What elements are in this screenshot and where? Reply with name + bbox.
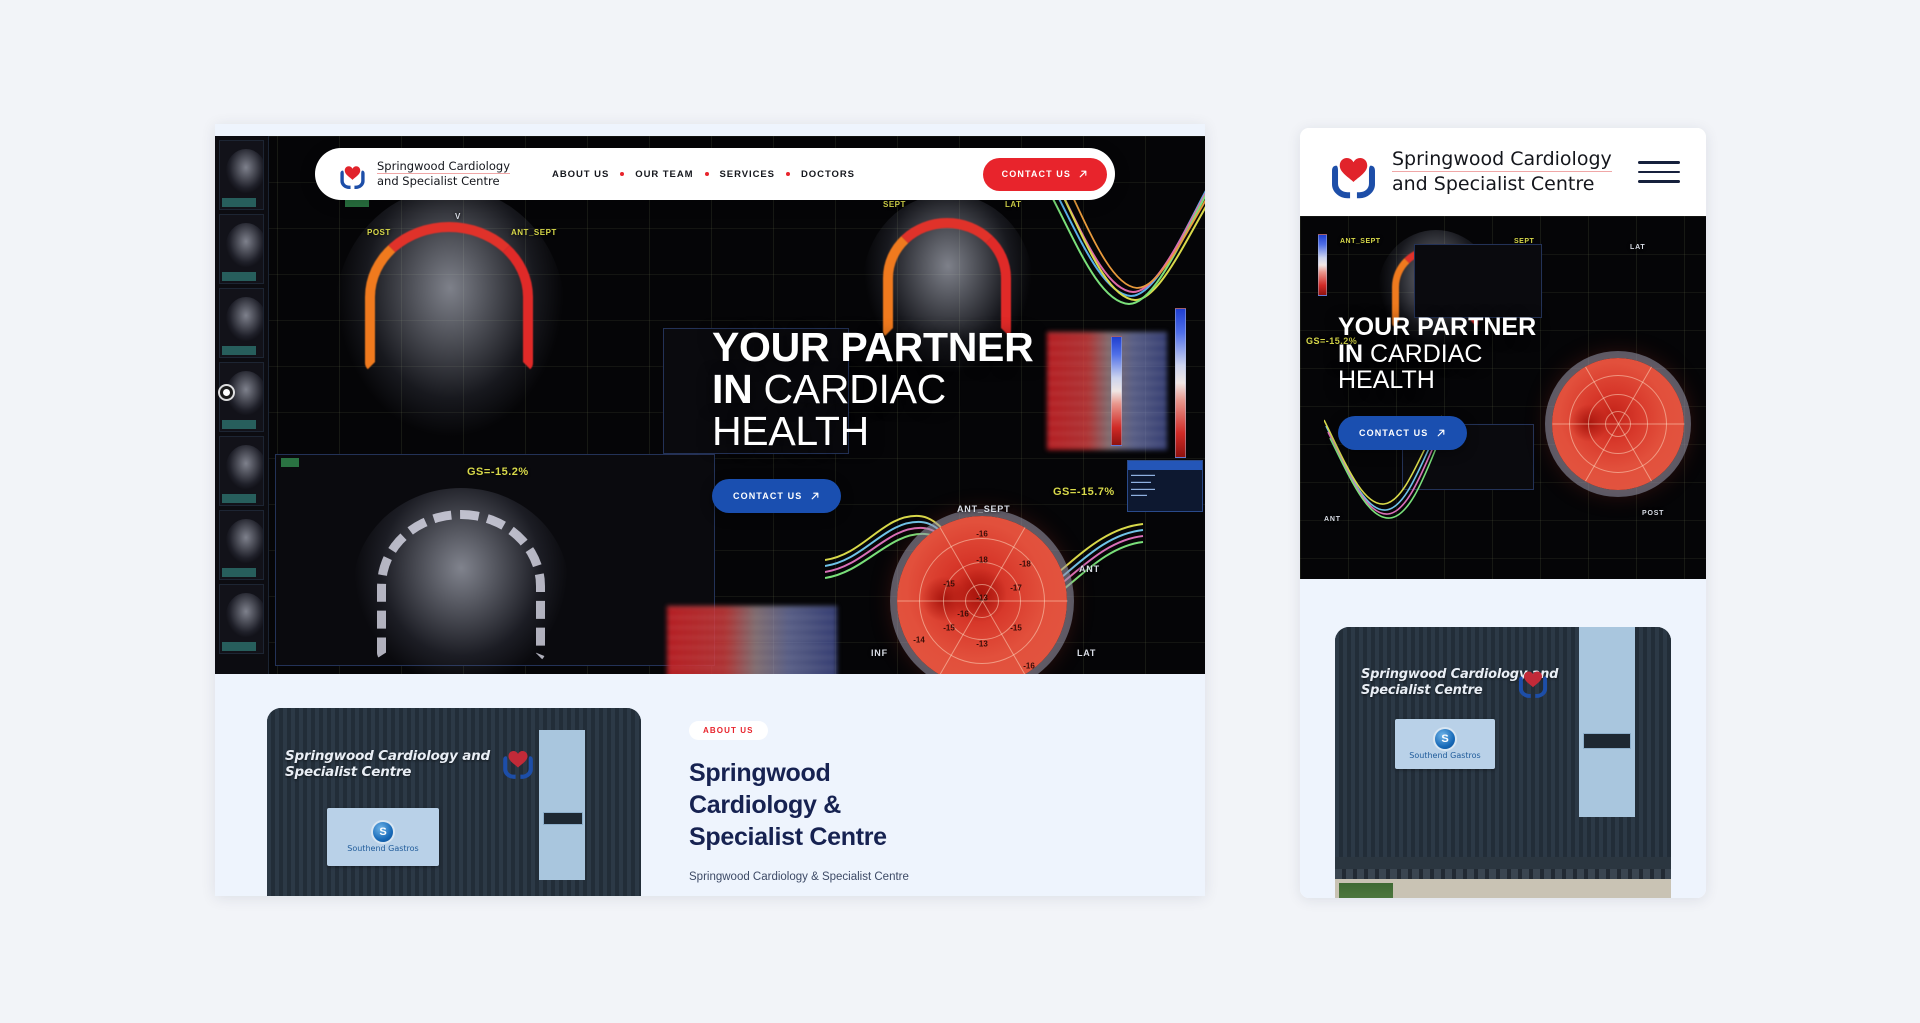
mobile-hero-headline-part-3: CARDIAC <box>1370 340 1483 368</box>
signage-line-2: Specialist Centre <box>1361 683 1482 698</box>
screenshot-stage: POST ANT_SEPT V GS=-15.2% <box>0 0 1920 1023</box>
scan-thumbnail <box>219 288 264 358</box>
building-carpark <box>1335 857 1671 898</box>
about-heading: Springwood Cardiology & Specialist Centr… <box>689 757 909 853</box>
scan-thumbnail <box>219 214 264 284</box>
about-heading-line-1: Springwood <box>689 759 830 787</box>
bullseye-segment-value: -14 <box>913 636 925 645</box>
strain-colorbar <box>1318 234 1327 296</box>
scan-label-ant-sept: ANT_SEPT <box>1340 238 1381 245</box>
mobile-hero-content: YOUR PARTNER IN CARDIAC HEALTH CONTACT U… <box>1338 314 1536 450</box>
mobile-hero-headline: YOUR PARTNER IN CARDIAC HEALTH <box>1338 314 1536 394</box>
hero-headline-part-2: IN <box>712 366 764 412</box>
about-copy: ABOUT US Springwood Cardiology & Special… <box>641 708 909 896</box>
building-window <box>539 730 585 880</box>
mobile-hero: GS=-15.2% ANT_SEPT SEPT LAT <box>1300 216 1706 579</box>
site-logo[interactable]: Springwood Cardiology and Specialist Cen… <box>337 159 510 190</box>
signage-line-2: Specialist Centre <box>285 764 411 780</box>
nav-item-services[interactable]: SERVICES <box>720 169 775 180</box>
mobile-hero-headline-part-2: IN <box>1338 340 1370 368</box>
scan-thumbnail-strip <box>215 136 269 674</box>
about-heading-line-3: Specialist Centre <box>689 823 887 851</box>
hero-content: YOUR PARTNER IN CARDIAC HEALTH CONTACT U… <box>712 326 1033 513</box>
building-window-vent <box>1583 733 1631 749</box>
tenant-logo-badge: S <box>373 822 393 842</box>
nav-contact-us-label: CONTACT US <box>1002 169 1071 179</box>
tenant-logo-badge: S <box>1435 729 1455 749</box>
mobile-logo-line-2: and Specialist Centre <box>1392 172 1612 195</box>
scan-label-lat-top: LAT <box>1630 244 1646 251</box>
mobile-about-building-photo: Springwood Cardiology and Specialist Cen… <box>1335 627 1671 898</box>
bullseye-segment-value: -13 <box>976 640 988 649</box>
scan-label-gs-left: GS=-15.2% <box>467 466 529 478</box>
scan-label-ant-sept: ANT_SEPT <box>511 228 557 237</box>
bullseye-segment-value: -18 <box>976 556 988 565</box>
mobile-about-section: Springwood Cardiology and Specialist Cen… <box>1300 579 1706 898</box>
scan-readout-box: ▬▬▬▬▬▬▬▬▬▬▬▬▬▬▬▬▬▬▬▬▬ <box>1127 460 1203 512</box>
strain-heatmap-lower <box>667 606 837 674</box>
building-window <box>1579 627 1635 817</box>
about-building-photo: Springwood Cardiology and Specialist Cen… <box>267 708 641 896</box>
desktop-preview-card: POST ANT_SEPT V GS=-15.2% <box>215 124 1205 896</box>
bullseye-segment-value: -13 <box>976 594 988 603</box>
heart-in-hands-icon <box>337 159 368 190</box>
bullseye-segment-value: -15 <box>943 580 955 589</box>
logo-line-1: Springwood Cardiology <box>377 160 510 174</box>
bullseye-polar-map: -16 -18 -18 -17 -15 -13 -15 -15 -13 -16 … <box>897 516 1067 674</box>
scan-label-lat-top: LAT <box>1005 200 1021 209</box>
strain-contour-dashed <box>377 510 545 662</box>
hero-contact-us-button[interactable]: CONTACT US <box>712 479 841 513</box>
nav-separator-dot <box>620 172 624 176</box>
scan-label-v: V <box>455 212 461 221</box>
desktop-top-strip <box>215 124 1205 136</box>
strain-colorbar-2 <box>1111 336 1122 446</box>
scan-label-post: POST <box>1642 510 1664 517</box>
about-section: Springwood Cardiology and Specialist Cen… <box>215 674 1205 896</box>
arrow-up-right-icon <box>810 491 820 501</box>
nav-separator-dot <box>705 172 709 176</box>
scan-thumbnail <box>219 584 264 654</box>
building-signage-text: Springwood Cardiology and Specialist Cen… <box>285 748 490 780</box>
tenant-sign-panel: S Southend Gastros <box>1395 719 1495 769</box>
heart-in-hands-icon <box>1326 145 1381 200</box>
scan-tag-2 <box>281 458 299 467</box>
strain-overlay-arc <box>365 222 533 372</box>
hero-headline: YOUR PARTNER IN CARDIAC HEALTH <box>712 326 1033 453</box>
bullseye-segment-value: -16 <box>957 610 969 619</box>
bullseye-segment-value: -17 <box>1010 584 1022 593</box>
hero-headline-part-3: CARDIAC <box>764 366 946 412</box>
hero-contact-us-label: CONTACT US <box>733 491 802 501</box>
scan-label-lat: LAT <box>1077 648 1096 658</box>
nav-item-about-us[interactable]: ABOUT US <box>552 169 609 180</box>
nav-separator-dot <box>786 172 790 176</box>
mobile-hero-headline-part-1: YOUR PARTNER <box>1338 313 1536 341</box>
building-heart-in-hands-icon <box>499 742 537 780</box>
mobile-logo-line-1: Springwood Cardiology <box>1392 149 1612 172</box>
scan-label-sept: SEPT <box>883 200 906 209</box>
primary-nav: ABOUT US OUR TEAM SERVICES DOCTORS <box>552 169 855 180</box>
nav-item-doctors[interactable]: DOCTORS <box>801 169 855 180</box>
heatmap-frame <box>1414 244 1542 318</box>
mobile-logo-text: Springwood Cardiology and Specialist Cen… <box>1392 149 1612 196</box>
about-badge: ABOUT US <box>689 721 768 740</box>
site-navbar: Springwood Cardiology and Specialist Cen… <box>315 148 1115 200</box>
nav-item-our-team[interactable]: OUR TEAM <box>635 169 693 180</box>
scan-thumbnail <box>219 140 264 210</box>
scan-label-gs-right: GS=-15.7% <box>1053 486 1115 498</box>
hamburger-menu-icon[interactable] <box>1638 161 1680 183</box>
signage-line-1: Springwood Cardiology and <box>285 748 490 764</box>
about-body-text: Springwood Cardiology & Specialist Centr… <box>689 867 909 887</box>
scan-label-post: POST <box>367 228 391 237</box>
logo-line-2: and Specialist Centre <box>377 174 510 187</box>
building-heart-in-hands-icon <box>1515 663 1551 699</box>
bullseye-segment-value: -15 <box>1010 624 1022 633</box>
mobile-hero-headline-part-4: HEALTH <box>1338 366 1435 394</box>
nav-contact-us-button[interactable]: CONTACT US <box>983 158 1107 191</box>
strain-overlay-arc-2 <box>883 218 1011 338</box>
bullseye-segment-value: -18 <box>1019 560 1031 569</box>
mobile-hero-contact-us-button[interactable]: CONTACT US <box>1338 416 1467 450</box>
echocardiogram-background: POST ANT_SEPT V GS=-15.2% <box>215 136 1205 674</box>
scroll-position-indicator[interactable] <box>220 386 233 399</box>
hero-headline-part-1: YOUR PARTNER <box>712 324 1033 370</box>
building-window-vent <box>543 812 583 825</box>
bullseye-segment-value: -15 <box>943 624 955 633</box>
mobile-header: Springwood Cardiology and Specialist Cen… <box>1300 128 1706 216</box>
scan-label-inf: INF <box>871 648 888 658</box>
scan-label-ant: ANT <box>1079 564 1100 574</box>
tenant-sign-panel: S Southend Gastros <box>327 808 439 866</box>
scan-thumbnail <box>219 436 264 506</box>
bullseye-segment-value: -16 <box>1023 662 1035 671</box>
hero-headline-part-4: HEALTH <box>712 408 869 454</box>
scan-thumbnail <box>219 510 264 580</box>
about-heading-line-2: Cardiology & <box>689 791 841 819</box>
arrow-up-right-icon <box>1078 169 1088 179</box>
strain-heatmap-right <box>1047 332 1167 450</box>
bullseye-segment-value: -16 <box>976 530 988 539</box>
mobile-preview-card: Springwood Cardiology and Specialist Cen… <box>1300 128 1706 898</box>
tenant-name: Southend Gastros <box>347 844 418 853</box>
desktop-hero: POST ANT_SEPT V GS=-15.2% <box>215 136 1205 674</box>
mobile-hero-contact-us-label: CONTACT US <box>1359 428 1428 438</box>
scan-label-ant: ANT <box>1324 516 1341 523</box>
tenant-name: Southend Gastros <box>1409 751 1480 760</box>
bullseye-polar-map <box>1552 358 1684 490</box>
strain-colorbar <box>1175 308 1186 458</box>
arrow-up-right-icon <box>1436 428 1446 438</box>
site-logo-text: Springwood Cardiology and Specialist Cen… <box>377 160 510 187</box>
